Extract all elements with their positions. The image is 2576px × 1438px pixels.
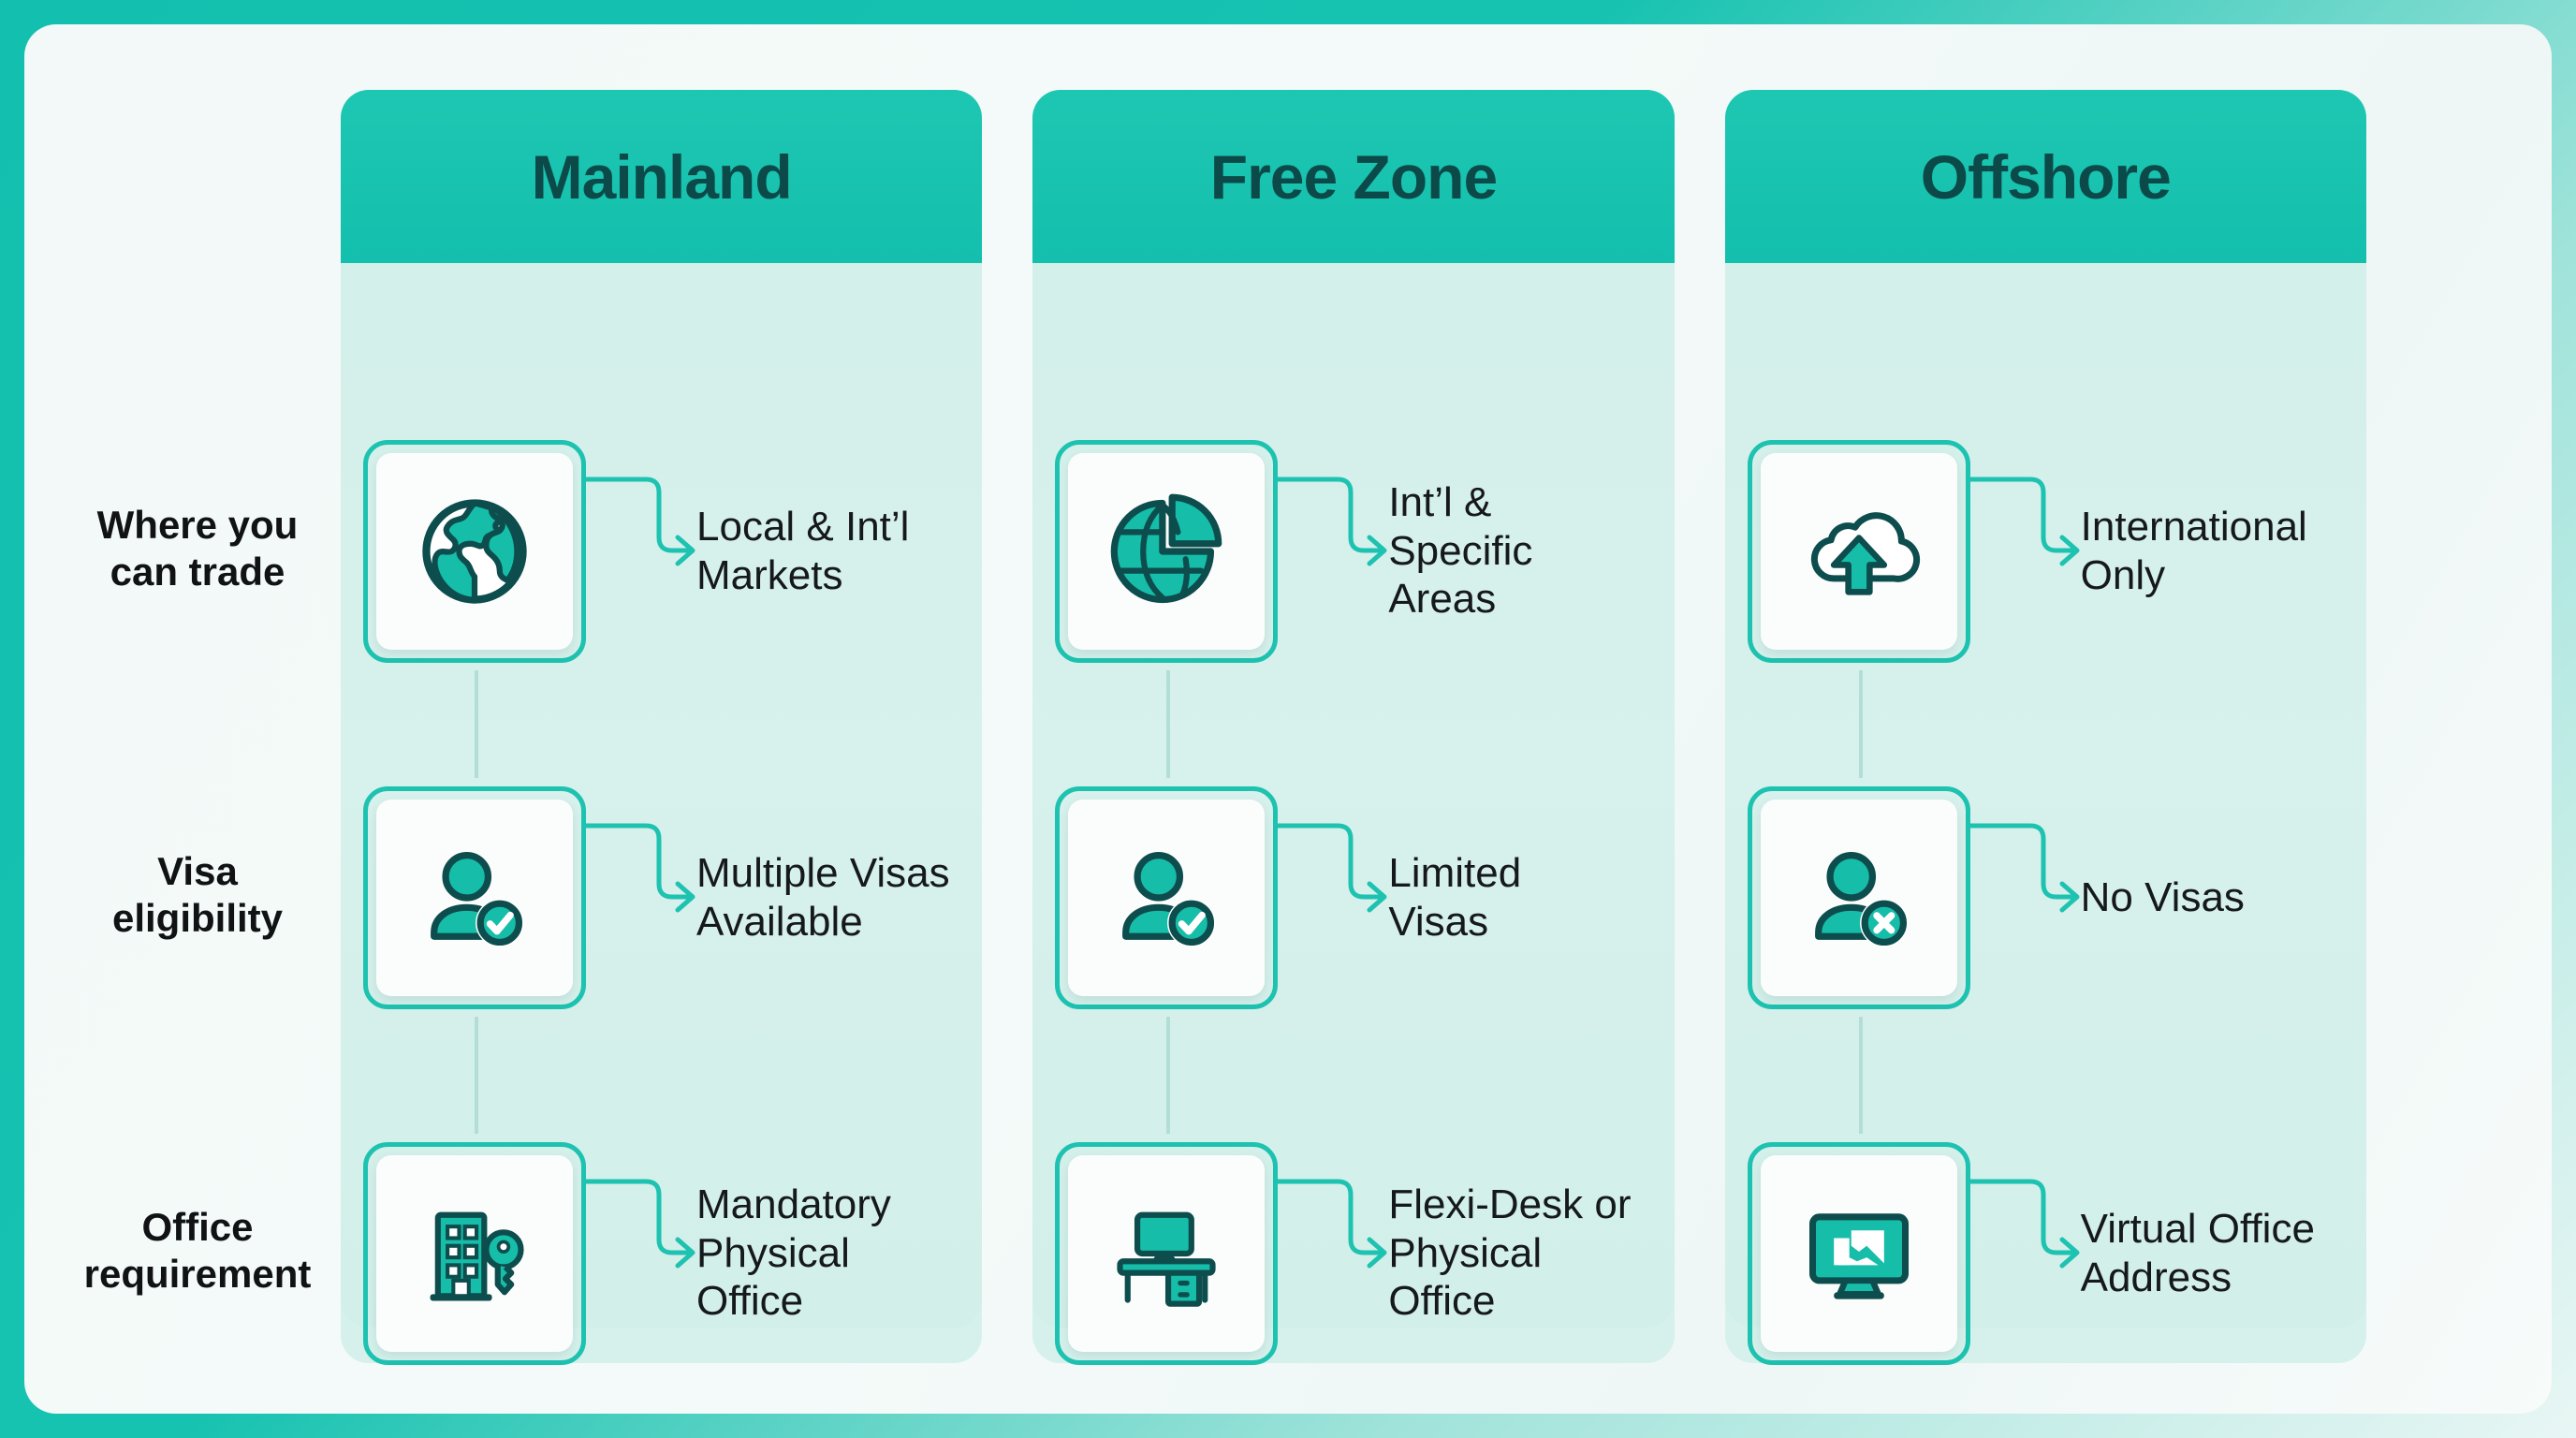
cell-mainland-office: Mandatory Physical Office bbox=[341, 1134, 982, 1372]
arrow-right-icon bbox=[1965, 1142, 2086, 1365]
cell-offshore-office: Virtual Office Address bbox=[1725, 1134, 2366, 1372]
cell-value: Multiple Visas Available bbox=[696, 849, 982, 946]
arrow-right-icon bbox=[1965, 786, 2086, 1009]
building-key-icon bbox=[413, 1192, 536, 1315]
connector-line bbox=[1859, 670, 1863, 778]
arrow-connector bbox=[586, 440, 696, 663]
column-title: Free Zone bbox=[1210, 146, 1497, 208]
row-label-column: Where you can trade Visa eligibility Off… bbox=[62, 90, 333, 1363]
arrow-connector bbox=[1278, 440, 1388, 663]
icon-inner-card bbox=[1761, 800, 1957, 996]
icon-card bbox=[363, 440, 586, 663]
person-check-icon bbox=[413, 836, 536, 960]
arrow-right-icon bbox=[580, 1142, 702, 1365]
cell-value: Virtual Office Address bbox=[2081, 1205, 2366, 1302]
column-mainland: Mainland bbox=[341, 90, 982, 1363]
row-label-line-1: Office bbox=[62, 1204, 333, 1251]
arrow-right-icon bbox=[580, 440, 702, 663]
icon-card bbox=[363, 1142, 586, 1365]
arrow-connector bbox=[1970, 786, 2081, 1009]
cell-freezone-office: Flexi-Desk or Physical Office bbox=[1032, 1134, 1674, 1372]
icon-inner-card bbox=[1068, 453, 1265, 650]
cell-value: Flexi-Desk or Physical Office bbox=[1388, 1181, 1674, 1327]
desk-computer-icon bbox=[1105, 1192, 1228, 1315]
column-offshore: Offshore bbox=[1725, 90, 2366, 1363]
column-rows: Local & Int’l Markets bbox=[341, 263, 982, 1328]
icon-inner-card bbox=[1068, 800, 1265, 996]
icon-card bbox=[363, 786, 586, 1009]
column-title: Offshore bbox=[1921, 146, 2171, 208]
column-header-free-zone: Free Zone bbox=[1032, 90, 1674, 263]
cell-value: International Only bbox=[2081, 503, 2366, 600]
person-check-icon bbox=[1105, 836, 1228, 960]
infographic-frame: Where you can trade Visa eligibility Off… bbox=[0, 0, 2576, 1438]
cell-mainland-visa: Multiple Visas Available bbox=[341, 778, 982, 1017]
comparison-columns: Mainland bbox=[341, 90, 2366, 1363]
column-free-zone: Free Zone bbox=[1032, 90, 1674, 1363]
cell-value: No Visas bbox=[2081, 873, 2261, 922]
connector-line bbox=[475, 670, 478, 778]
icon-card bbox=[1055, 1142, 1278, 1365]
cell-mainland-trade: Local & Int’l Markets bbox=[341, 432, 982, 670]
row-label-line-2: requirement bbox=[62, 1251, 333, 1298]
cell-value: Int’l & Specific Areas bbox=[1388, 478, 1622, 624]
column-rows: International Only bbox=[1725, 263, 2366, 1328]
globe-segment-icon bbox=[1105, 490, 1228, 613]
cell-value: Local & Int’l Markets bbox=[696, 503, 982, 600]
globe-earth-icon bbox=[413, 490, 536, 613]
icon-inner-card bbox=[1761, 1155, 1957, 1352]
column-rows: Int’l & Specific Areas bbox=[1032, 263, 1674, 1328]
connector-line bbox=[1166, 1017, 1170, 1134]
icon-card bbox=[1055, 440, 1278, 663]
connector-line bbox=[1166, 670, 1170, 778]
arrow-right-icon bbox=[1272, 440, 1394, 663]
arrow-connector bbox=[1278, 1142, 1388, 1365]
icon-inner-card bbox=[376, 800, 573, 996]
row-label-line-1: Visa bbox=[62, 848, 333, 895]
connector-line bbox=[1859, 1017, 1863, 1134]
cell-value: Mandatory Physical Office bbox=[696, 1181, 982, 1327]
arrow-right-icon bbox=[1272, 786, 1394, 1009]
row-label-line-1: Where you bbox=[62, 502, 333, 549]
row-label-where-you-can-trade: Where you can trade bbox=[62, 502, 333, 594]
arrow-right-icon bbox=[1272, 1142, 1394, 1365]
column-title: Mainland bbox=[532, 146, 792, 208]
icon-card bbox=[1748, 440, 1970, 663]
infographic-canvas: Where you can trade Visa eligibility Off… bbox=[24, 24, 2552, 1414]
connector-line bbox=[475, 1017, 478, 1134]
arrow-connector bbox=[586, 1142, 696, 1365]
row-label-visa-eligibility: Visa eligibility bbox=[62, 848, 333, 941]
arrow-right-icon bbox=[1965, 440, 2086, 663]
icon-inner-card bbox=[1068, 1155, 1265, 1352]
cell-offshore-trade: International Only bbox=[1725, 432, 2366, 670]
column-header-offshore: Offshore bbox=[1725, 90, 2366, 263]
arrow-connector bbox=[1970, 440, 2081, 663]
cell-offshore-visa: No Visas bbox=[1725, 778, 2366, 1017]
icon-inner-card bbox=[1761, 453, 1957, 650]
arrow-connector bbox=[586, 786, 696, 1009]
icon-inner-card bbox=[376, 1155, 573, 1352]
person-x-icon bbox=[1797, 836, 1921, 960]
arrow-right-icon bbox=[580, 786, 702, 1009]
row-label-line-2: eligibility bbox=[62, 895, 333, 942]
row-label-line-2: can trade bbox=[62, 549, 333, 595]
icon-inner-card bbox=[376, 453, 573, 650]
cell-value: Limited Visas bbox=[1388, 849, 1622, 946]
monitor-image-icon bbox=[1797, 1192, 1921, 1315]
cloud-upload-icon bbox=[1797, 490, 1921, 613]
icon-card bbox=[1055, 786, 1278, 1009]
cell-freezone-visa: Limited Visas bbox=[1032, 778, 1674, 1017]
column-header-mainland: Mainland bbox=[341, 90, 982, 263]
arrow-connector bbox=[1970, 1142, 2081, 1365]
icon-card bbox=[1748, 1142, 1970, 1365]
row-label-office-requirement: Office requirement bbox=[62, 1204, 333, 1297]
arrow-connector bbox=[1278, 786, 1388, 1009]
cell-freezone-trade: Int’l & Specific Areas bbox=[1032, 432, 1674, 670]
icon-card bbox=[1748, 786, 1970, 1009]
